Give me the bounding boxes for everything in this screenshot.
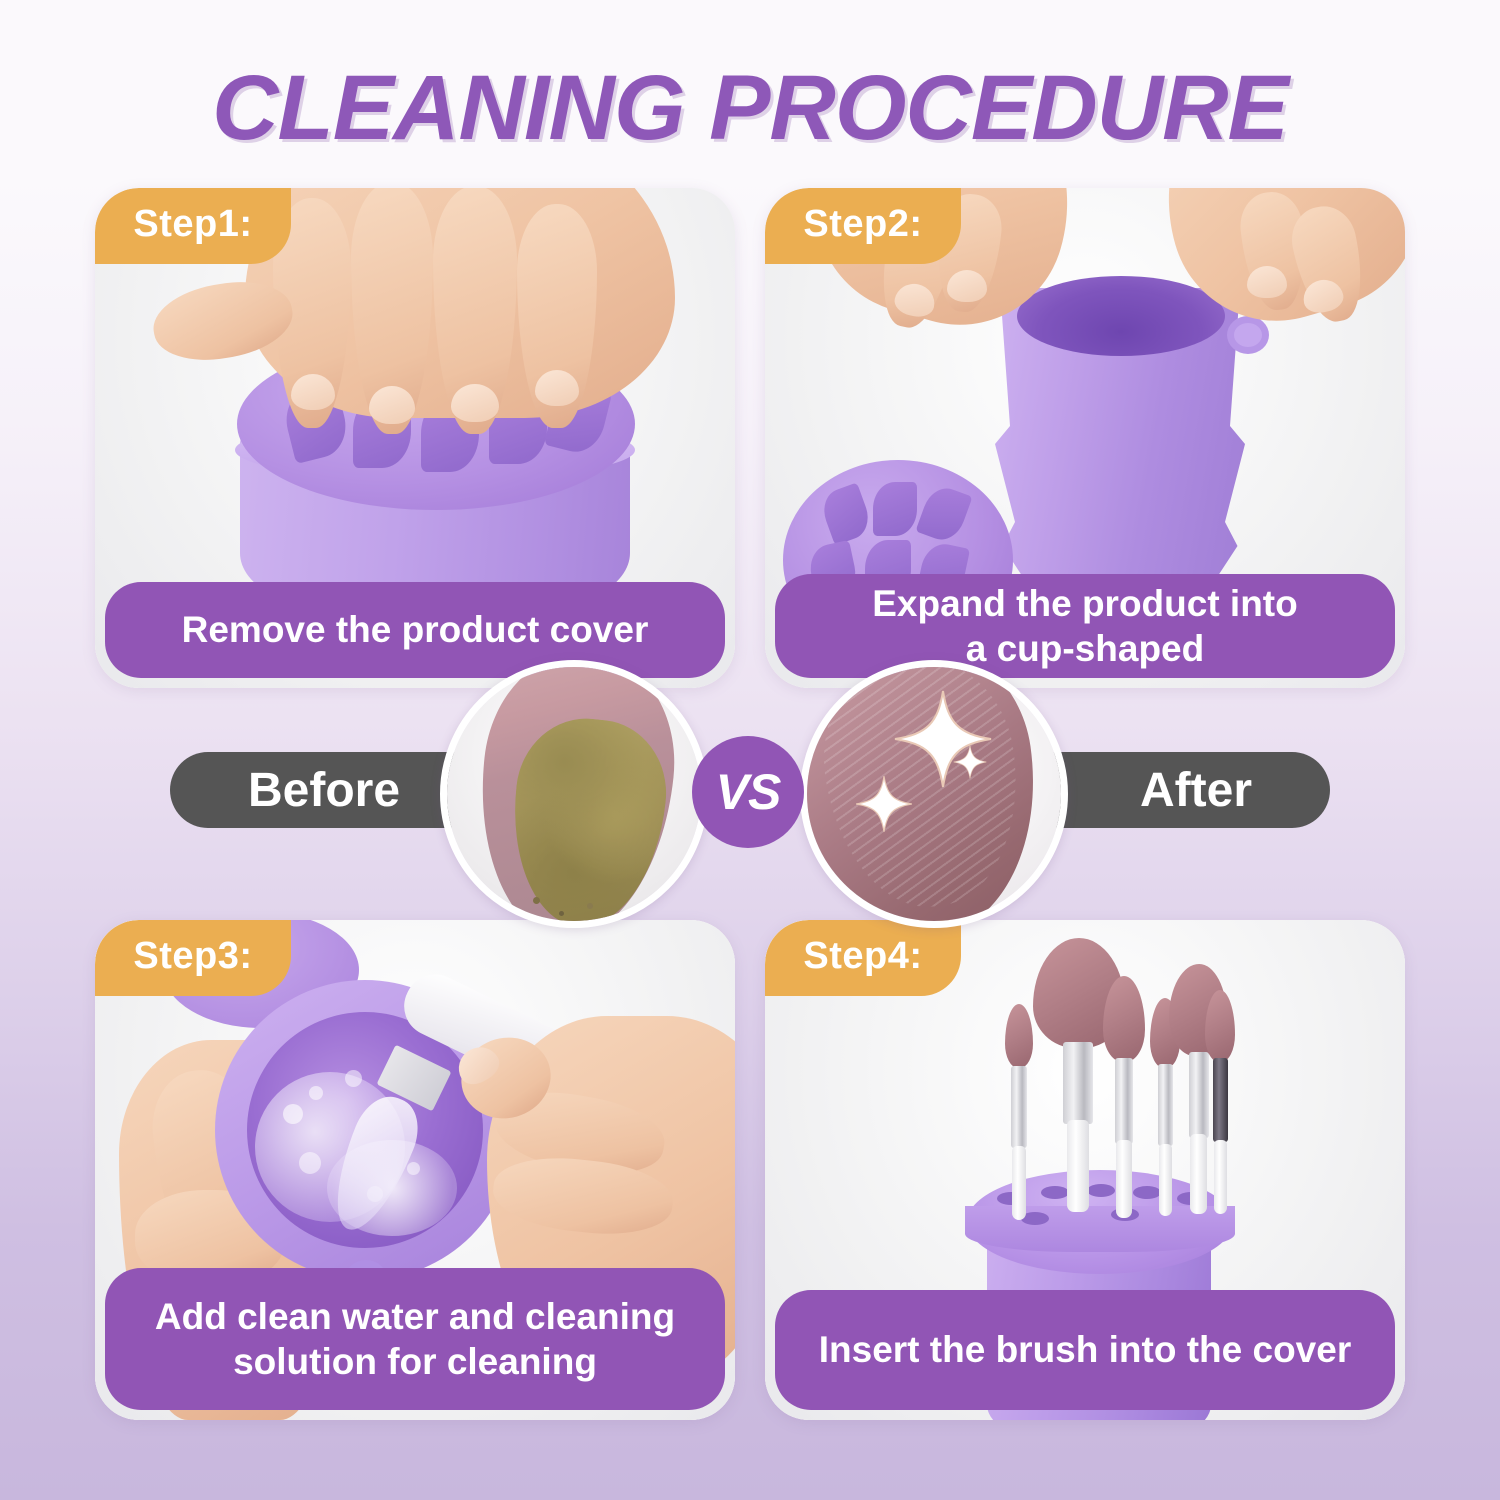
dirt-speck: [559, 911, 564, 916]
brush-handle: [1012, 1146, 1026, 1220]
step-badge-2: Step2:: [765, 188, 961, 264]
brush-handle: [1067, 1120, 1089, 1212]
sparkle-medium-icon: [855, 775, 913, 833]
step-1-photo: Step1: Remove the product cover: [95, 188, 735, 688]
step-caption-2-line1: Expand the product into: [872, 583, 1297, 624]
step-caption-2-line2: a cup-shaped: [966, 628, 1205, 669]
soap-bubble: [407, 1162, 420, 1175]
step-caption-3-line1: Add clean water and cleaning: [155, 1296, 675, 1337]
dirt-speck: [587, 903, 593, 909]
dirt-speck: [533, 897, 540, 904]
step-card-1: Step1: Remove the product cover: [95, 188, 735, 688]
cup-inner-water: [247, 1012, 483, 1248]
fingernail: [369, 386, 415, 424]
step-card-4: Step4: Insert the brush into the cover: [765, 920, 1405, 1420]
after-brush-photo: [800, 660, 1068, 928]
step-4-photo: Step4: Insert the brush into the cover: [765, 920, 1405, 1420]
step-caption-3: Add clean water and cleaning solution fo…: [105, 1268, 725, 1410]
before-after-comparison: Before After: [0, 700, 1500, 920]
fingernail: [1247, 266, 1287, 298]
step-caption-3-line2: solution for cleaning: [233, 1341, 597, 1382]
brush-ferrule: [1063, 1042, 1093, 1124]
step-badge-4: Step4:: [765, 920, 961, 996]
brush-head: [1205, 990, 1235, 1062]
step-caption-2: Expand the product into a cup-shaped: [775, 574, 1395, 678]
fingernail: [291, 374, 335, 410]
step-card-2: Step2: Expand the product into a cup-sha…: [765, 188, 1405, 688]
makeup-brush: [1101, 976, 1147, 1214]
step-caption-4: Insert the brush into the cover: [775, 1290, 1395, 1410]
soap-bubble: [345, 1070, 362, 1087]
step-card-3: Step3: Add clean water and cleaning solu…: [95, 920, 735, 1420]
after-label: After: [1140, 763, 1252, 818]
soap-bubble: [309, 1086, 323, 1100]
step-badge-1: Step1:: [95, 188, 291, 264]
cup-interior: [1017, 276, 1225, 356]
brush-handle: [1116, 1140, 1132, 1218]
before-label: Before: [248, 763, 400, 818]
fingernail: [947, 270, 987, 302]
vs-badge: VS: [692, 736, 804, 848]
fingernail: [535, 370, 579, 406]
page-title: CLEANING PROCEDURE: [0, 56, 1500, 161]
step-badge-3: Step3:: [95, 920, 291, 996]
brush-ferrule: [1115, 1058, 1133, 1144]
brush-handle: [1214, 1140, 1227, 1214]
step-2-photo: Step2: Expand the product into a cup-sha…: [765, 188, 1405, 688]
makeup-brush: [1001, 1004, 1035, 1214]
brush-ferrule: [1011, 1066, 1027, 1148]
brush-head: [1103, 976, 1145, 1062]
fingernail: [451, 384, 499, 422]
soap-bubble: [283, 1104, 303, 1124]
poster-root: CLEANING PROCEDURE: [0, 0, 1500, 1500]
before-brush-photo: [440, 660, 708, 928]
dirt-speck: [613, 917, 617, 921]
sparkle-small-icon: [953, 745, 987, 779]
makeup-brush: [1201, 990, 1239, 1214]
brush-ferrule: [1213, 1058, 1228, 1142]
step-caption-1: Remove the product cover: [105, 582, 725, 678]
step-3-photo: Step3: Add clean water and cleaning solu…: [95, 920, 735, 1420]
cup-hanging-tab: [1227, 316, 1269, 354]
lid-pattern-cell: [873, 482, 917, 536]
soap-bubble: [299, 1152, 321, 1174]
brush-head: [1005, 1004, 1033, 1068]
